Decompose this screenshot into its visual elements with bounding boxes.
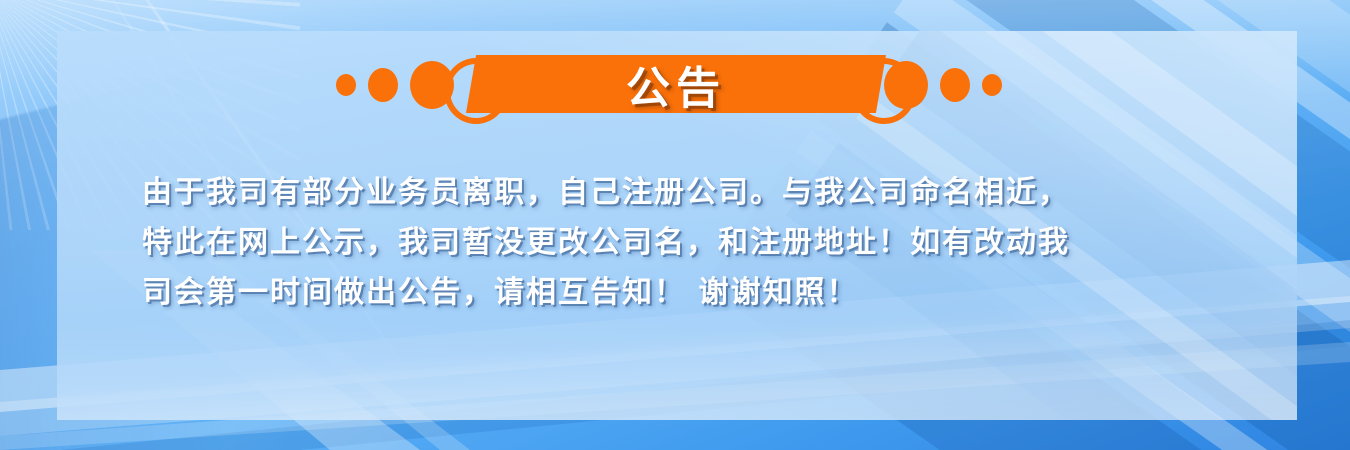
left-dots-group (336, 52, 454, 118)
small-dot-icon (982, 74, 1002, 96)
medium-dot-icon (368, 68, 398, 102)
medium-dot-icon (940, 68, 970, 102)
announcement-line: 特此在网上公示，我司暂没更改公司名，和注册地址！如有改动我 (142, 218, 1232, 268)
right-dots-group (884, 52, 1002, 118)
title-bar: 公告 (466, 55, 886, 113)
announcement-line: 由于我司有部分业务员离职，自己注册公司。与我公司命名相近， (142, 168, 1232, 218)
announcement-banner: 公告 由于我司有部分业务员离职，自己注册公司。与我公司命名相近， 特此在网上公示… (0, 0, 1350, 450)
announcement-body: 由于我司有部分业务员离职，自己注册公司。与我公司命名相近， 特此在网上公示，我司… (142, 168, 1232, 318)
large-dot-icon (884, 61, 928, 109)
announcement-line: 司会第一时间做出公告，请相互告知！ 谢谢知照！ (142, 268, 1232, 318)
page-title: 公告 (466, 55, 886, 113)
title-ribbon: 公告 (0, 52, 1350, 118)
small-dot-icon (336, 74, 356, 96)
